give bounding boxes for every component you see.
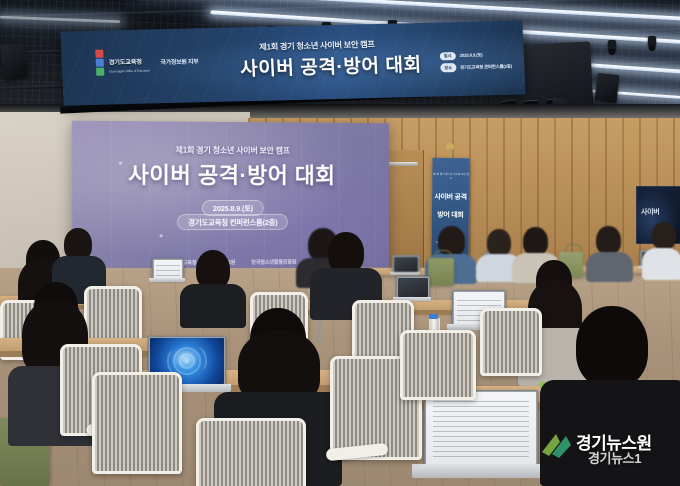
person-head	[576, 306, 648, 388]
banner-info-row: 장소 경기도교육청 콘퍼런스룸(2층)	[440, 62, 512, 72]
watermark: 경기뉴스원 경기뉴스1	[540, 424, 680, 474]
banner-title: 사이버 공격·방어 대회	[240, 50, 423, 81]
bottle-cap	[429, 314, 438, 319]
screen-logo-3: 한국청소년활동진흥원	[251, 259, 296, 266]
banner-org-primary: 경기도교육청	[109, 59, 142, 67]
person-body	[642, 248, 680, 280]
ceiling-speaker	[595, 73, 620, 103]
secondary-display-text: 사이버	[641, 207, 659, 217]
screen-particle	[160, 234, 163, 237]
person-head	[487, 229, 511, 257]
person-head	[596, 226, 621, 255]
tote-bag	[428, 258, 454, 286]
banner-info-row: 일시 2025.8.9.(토)	[440, 51, 512, 61]
banner-org-secondary: 국가정보원 지부	[160, 56, 198, 66]
screen-supertitle: 제1회 경기 청소년 사이버 보안 캠프	[72, 144, 389, 157]
banner-logo-squares	[95, 50, 104, 76]
banner-org-primary-sub: Gyeonggido Office of Education	[109, 69, 150, 74]
watermark-subtitle: 경기뉴스1	[588, 448, 641, 467]
person-body	[180, 284, 246, 328]
person-head	[523, 227, 548, 256]
ceiling-speaker	[0, 43, 28, 80]
arrow-mark-icon	[540, 430, 574, 460]
event-photo: 경기도교육청 Gyeonggido Office of Education 국가…	[0, 0, 680, 486]
event-banner: 경기도교육청 Gyeonggido Office of Education 국가…	[60, 20, 525, 105]
spotlight-icon	[648, 36, 656, 46]
person-body	[586, 252, 633, 282]
banner-place-chip: 장소	[440, 63, 456, 72]
rollup-line1: 사이버 공격	[432, 192, 469, 202]
rollup-line2: 방어 대회	[432, 210, 469, 220]
person-head	[652, 222, 676, 250]
banner-place-value: 경기도교육청 콘퍼런스룸(2층)	[460, 63, 512, 70]
screen-place-pill: 경기도교육청 컨퍼런스룸(2층)	[177, 214, 288, 230]
banner-date-value: 2025.8.9.(토)	[459, 53, 482, 60]
screen-title: 사이버 공격·방어 대회	[72, 157, 389, 190]
banner-info-group: 일시 2025.8.9.(토) 장소 경기도교육청 콘퍼런스룸(2층)	[440, 51, 512, 72]
banner-date-chip: 일시	[440, 52, 456, 61]
banner-logo-group: 경기도교육청 Gyeonggido Office of Education 국가…	[95, 47, 199, 75]
rollup-supertitle: 제1회 경기 청소년 사이버 보안 캠프	[432, 173, 469, 181]
spotlight-icon	[608, 40, 616, 50]
